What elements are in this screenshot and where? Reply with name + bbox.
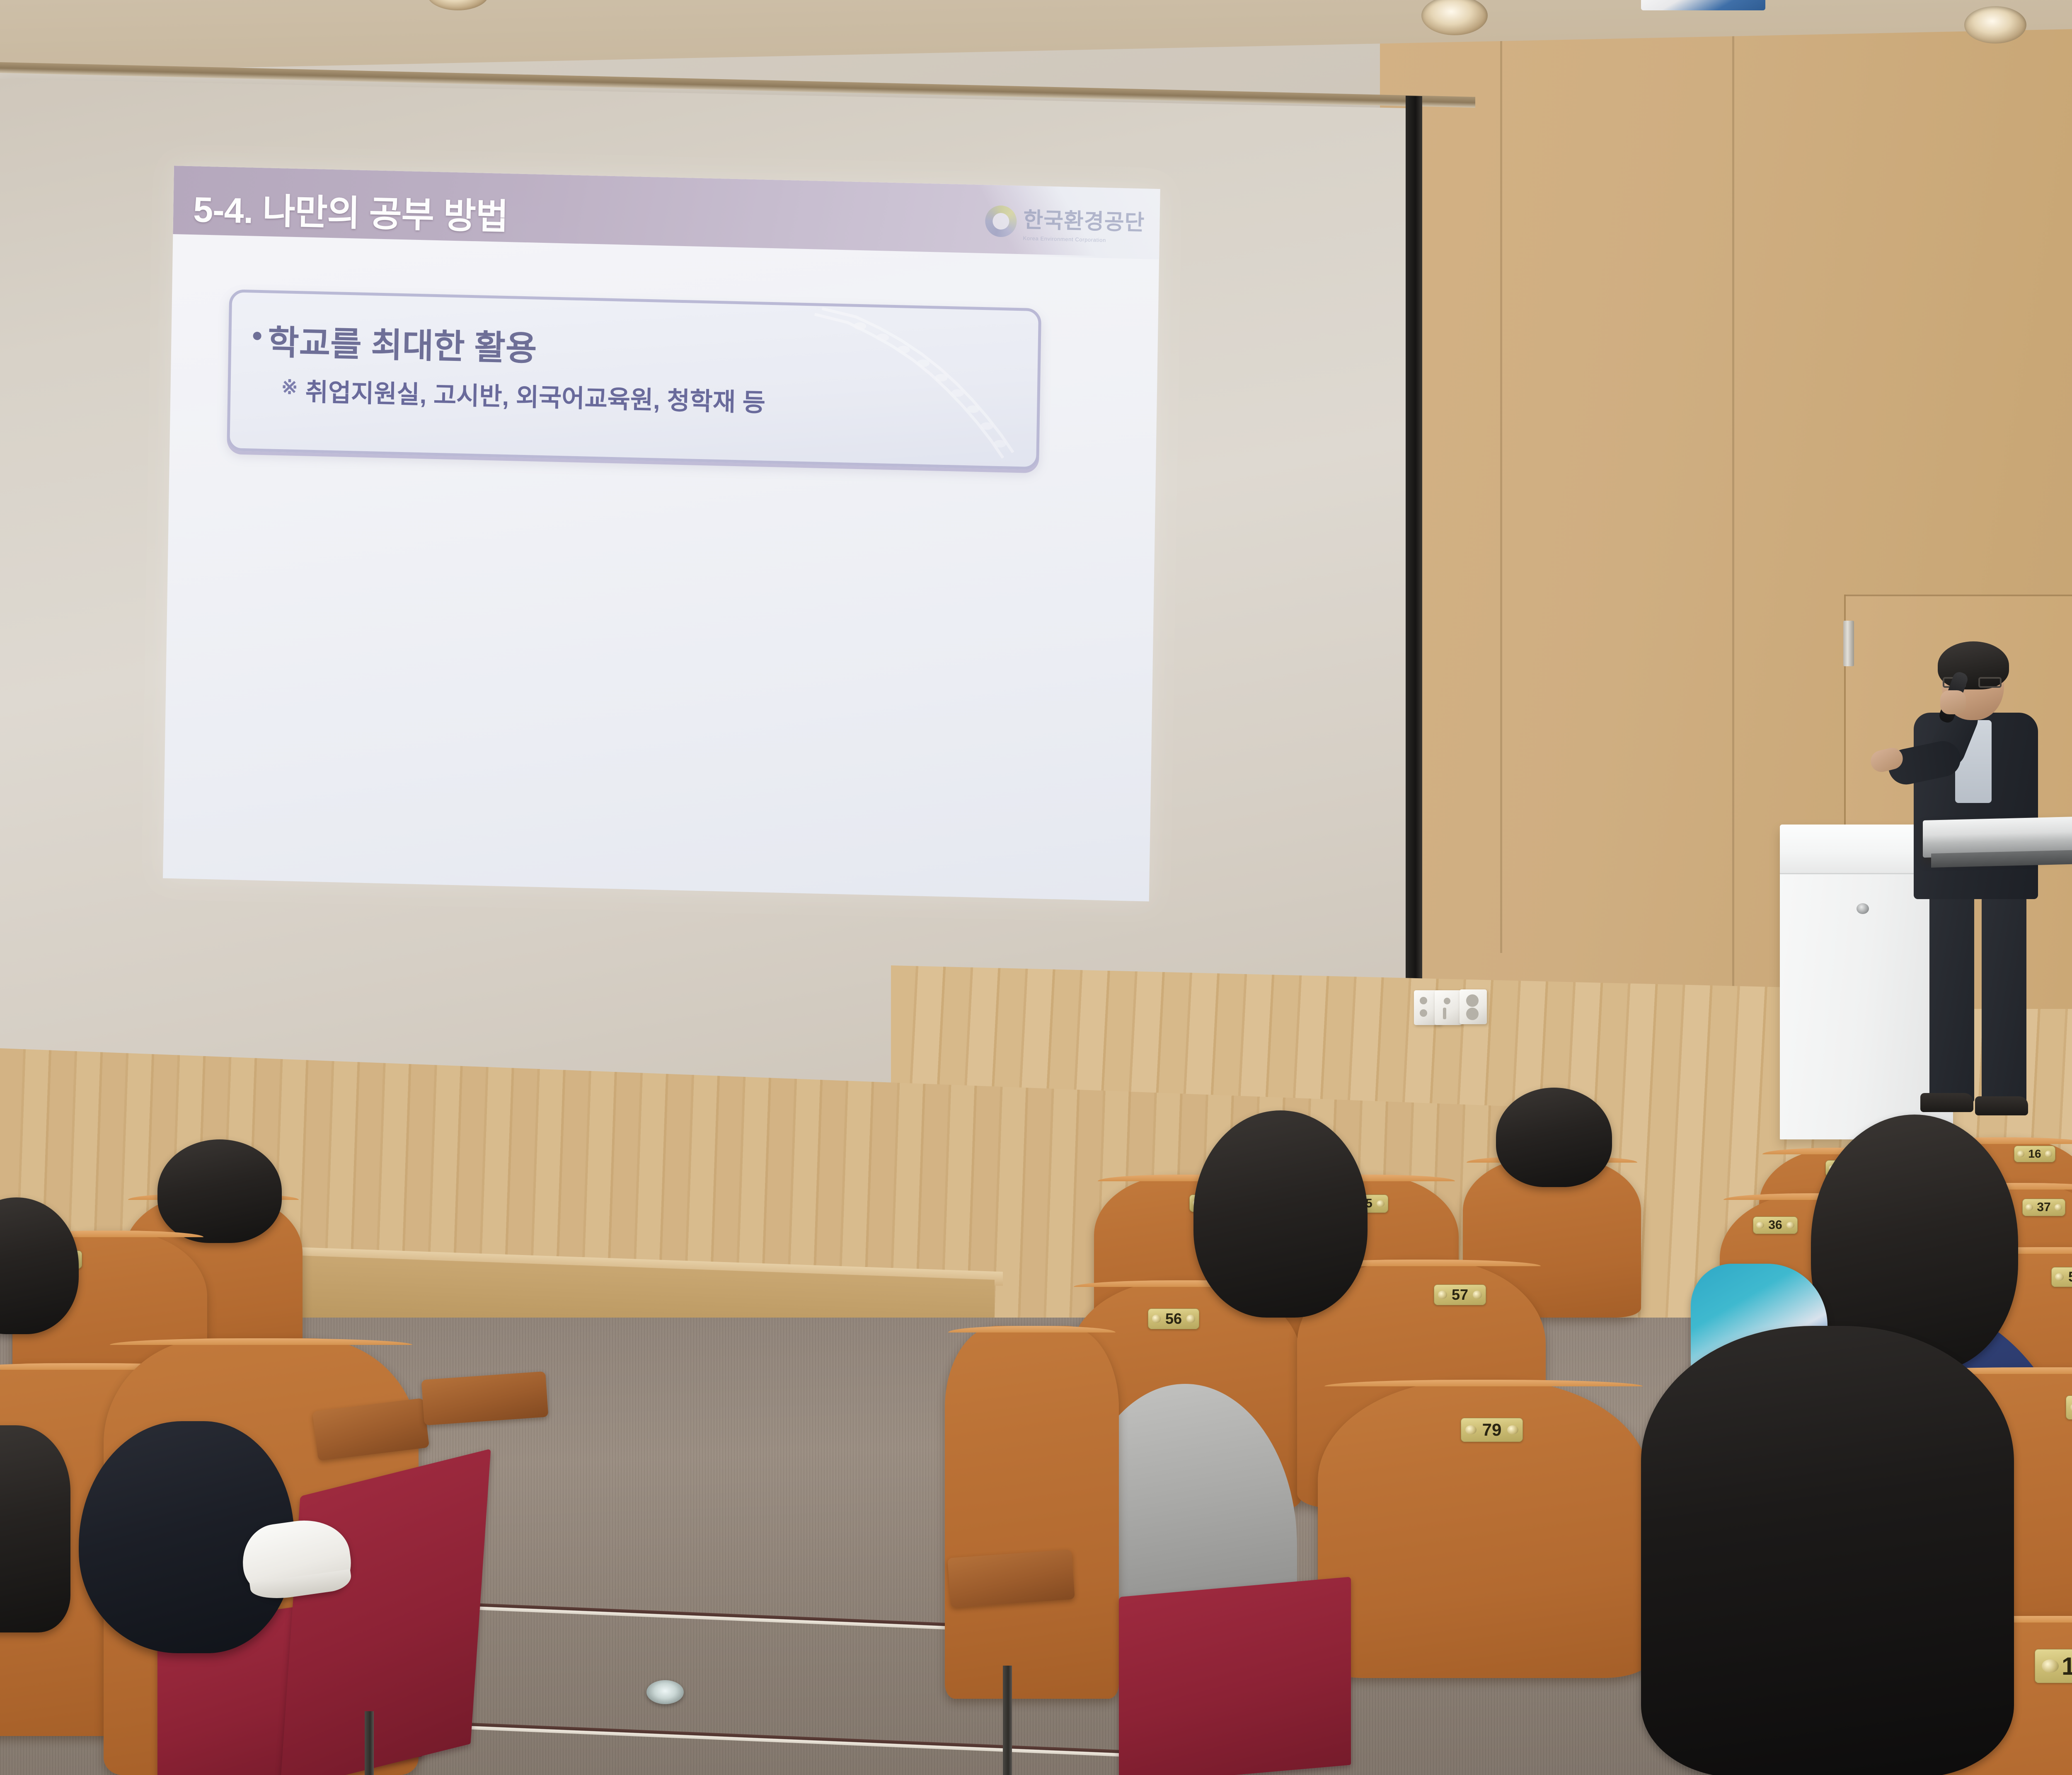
seat-number-plate: 79 <box>1461 1418 1523 1442</box>
seat-cushion <box>1119 1577 1351 1775</box>
presenter-shoe <box>1920 1093 1973 1112</box>
presenter-leg <box>1982 887 2026 1102</box>
plate-screw-icon <box>1507 1425 1518 1434</box>
seat-number: 36 <box>1768 1218 1782 1232</box>
seat-number: 57 <box>1452 1286 1468 1303</box>
seat-leg <box>1003 1666 1012 1775</box>
logo-text-block: 한국환경공단 Korea Environment Corporation <box>1023 202 1145 244</box>
seat-number-plate: 103 <box>2035 1649 2072 1683</box>
plate-screw-icon <box>1786 1222 1794 1228</box>
cabinet-lock-icon <box>1857 903 1869 914</box>
audience-head <box>1641 1326 2014 1775</box>
plate-screw-icon <box>2045 1151 2053 1157</box>
plate-screw-icon <box>2055 1204 2062 1211</box>
slide-bullet-secondary-text: 취업지원실, 고시반, 외국어교육원, 청학재 등 <box>305 372 766 419</box>
slide-title: 5-4. 나만의 공부 방법 <box>193 180 508 239</box>
bullet-dot-icon <box>253 332 261 340</box>
organization-logo: 한국환경공단 Korea Environment Corporation <box>985 201 1145 244</box>
slide-bullet-primary-text: 학교를 최대한 활용 <box>268 314 537 370</box>
audience-head <box>1193 1110 1368 1318</box>
plate-screw-icon <box>2017 1151 2025 1157</box>
presentation-slide: 5-4. 나만의 공부 방법 한국환경공단 Korea Environment … <box>163 166 1160 902</box>
plate-screw-icon <box>2042 1659 2059 1673</box>
seat-number-plate: 80 <box>2066 1395 2072 1420</box>
plate-screw-icon <box>2026 1204 2033 1211</box>
plate-screw-icon <box>2070 1403 2072 1412</box>
ceiling-vent <box>1641 0 1765 10</box>
plate-screw-icon <box>1438 1291 1447 1299</box>
seat-armrest <box>947 1550 1075 1608</box>
presenter-shoe <box>1975 1096 2028 1115</box>
plate-screw-icon <box>1186 1315 1196 1323</box>
wall-seam <box>1500 0 1502 953</box>
seat-armrest <box>421 1371 549 1426</box>
plate-screw-icon <box>1473 1291 1482 1299</box>
seat[interactable] <box>945 1326 1119 1699</box>
presenter-right-hand <box>1940 690 1966 714</box>
seat-number: 79 <box>1482 1420 1502 1440</box>
wall-seam <box>1732 0 1734 1061</box>
seat-number-plate: 16 <box>2014 1146 2055 1162</box>
seat-number: 56 <box>1165 1310 1182 1328</box>
seat-number: 37 <box>2037 1200 2050 1214</box>
plate-screw-icon <box>1377 1200 1385 1207</box>
audience-head <box>1496 1088 1612 1187</box>
audience-head <box>157 1139 282 1243</box>
slide-bullet-secondary: ※ 취업지원실, 고시반, 외국어교육원, 청학재 등 <box>281 371 766 419</box>
seat-number-plate: 58 <box>2051 1267 2072 1287</box>
presenter <box>1890 646 2064 1135</box>
seat-number: 103 <box>2062 1652 2072 1681</box>
seat-cushion <box>280 1449 491 1775</box>
reference-mark-icon: ※ <box>281 375 298 399</box>
seat-number-plate: 36 <box>1753 1216 1798 1234</box>
slide-content-box: 학교를 최대한 활용 ※ 취업지원실, 고시반, 외국어교육원, 청학재 등 <box>227 289 1041 470</box>
stairs-watermark-icon <box>796 297 1041 470</box>
screen-right-edge <box>1406 96 1422 1132</box>
seat-number-plate: 57 <box>1434 1284 1486 1305</box>
presenter-leg <box>1929 887 1974 1102</box>
presenter-legs <box>1929 887 2027 1110</box>
seat-number: 16 <box>2028 1147 2041 1161</box>
audience-head <box>0 1425 70 1632</box>
plate-screw-icon <box>1756 1222 1764 1228</box>
seat-number-plate: 37 <box>2022 1199 2065 1216</box>
slide-bullet-primary: 학교를 최대한 활용 <box>253 314 537 370</box>
plate-screw-icon <box>1152 1315 1161 1323</box>
auditorium-scene: 5-4. 나만의 공부 방법 한국환경공단 Korea Environment … <box>0 0 2072 1775</box>
seat[interactable]: 79 <box>1318 1380 1649 1678</box>
seat-number: 58 <box>2068 1269 2072 1285</box>
seat-leg <box>365 1711 374 1775</box>
environment-ring-logo-icon <box>985 205 1017 237</box>
logo-name-korean: 한국환경공단 <box>1023 202 1145 236</box>
downlight <box>1964 6 2026 44</box>
plate-screw-icon <box>2055 1273 2064 1281</box>
seat-number-plate: 56 <box>1148 1308 1199 1329</box>
plate-screw-icon <box>1465 1425 1477 1434</box>
power-outlet[interactable] <box>1460 989 1487 1024</box>
network-port-plate[interactable] <box>1435 990 1462 1025</box>
door-hinge-icon <box>1843 621 1854 666</box>
floor-step-light <box>646 1680 684 1704</box>
